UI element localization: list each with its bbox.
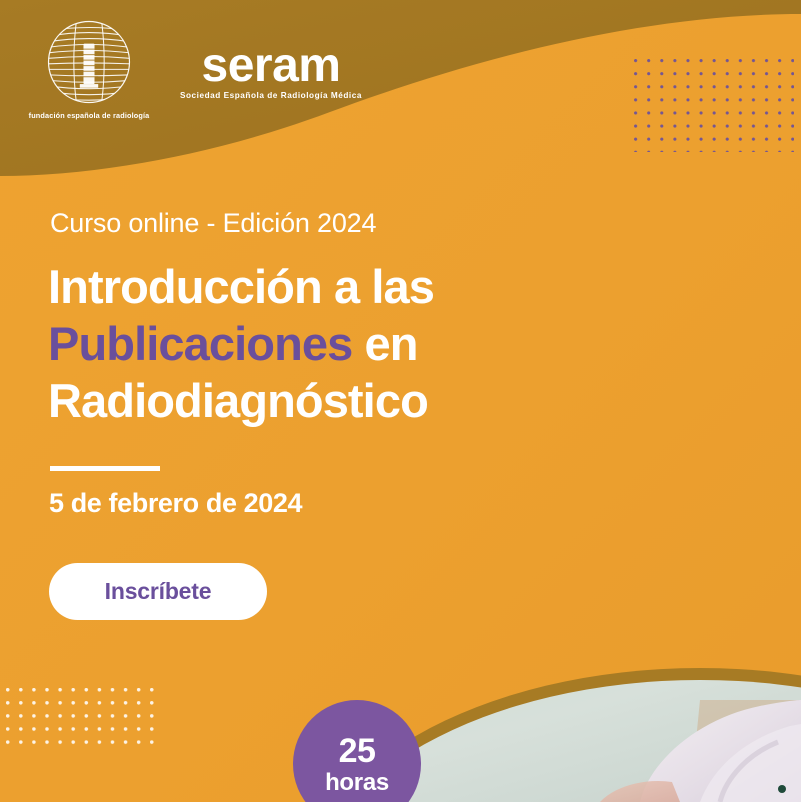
title-divider xyxy=(50,466,160,471)
page-title: Introducción a las Publicaciones en Radi… xyxy=(48,258,608,429)
headline-highlight: Publicaciones xyxy=(48,317,352,370)
enroll-button[interactable]: Inscríbete xyxy=(49,563,267,620)
foundation-logo-caption: fundación española de radiología xyxy=(29,111,150,120)
hours-badge-label: horas xyxy=(325,771,389,795)
sphere-globe-icon xyxy=(43,16,135,108)
course-promo-banner: fundación española de radiología seram S… xyxy=(0,0,801,802)
logo-block: fundación española de radiología seram S… xyxy=(36,16,362,120)
hours-badge-number: 25 xyxy=(339,734,376,768)
dot-pattern-top-right xyxy=(634,59,794,152)
headline-line-3: Radiodiagnóstico xyxy=(48,374,428,427)
course-date: 5 de febrero de 2024 xyxy=(49,488,302,519)
seram-wordmark: seram xyxy=(202,44,341,88)
foundation-logo: fundación española de radiología xyxy=(36,16,142,120)
headline-line-1: Introducción a las xyxy=(48,260,434,313)
course-eyebrow: Curso online - Edición 2024 xyxy=(50,208,376,239)
dot-pattern-bottom-left xyxy=(6,688,154,748)
headline-line-2-rest: en xyxy=(352,317,417,370)
seram-logo: seram Sociedad Española de Radiología Mé… xyxy=(180,44,362,100)
seram-tagline: Sociedad Española de Radiología Médica xyxy=(180,91,362,100)
